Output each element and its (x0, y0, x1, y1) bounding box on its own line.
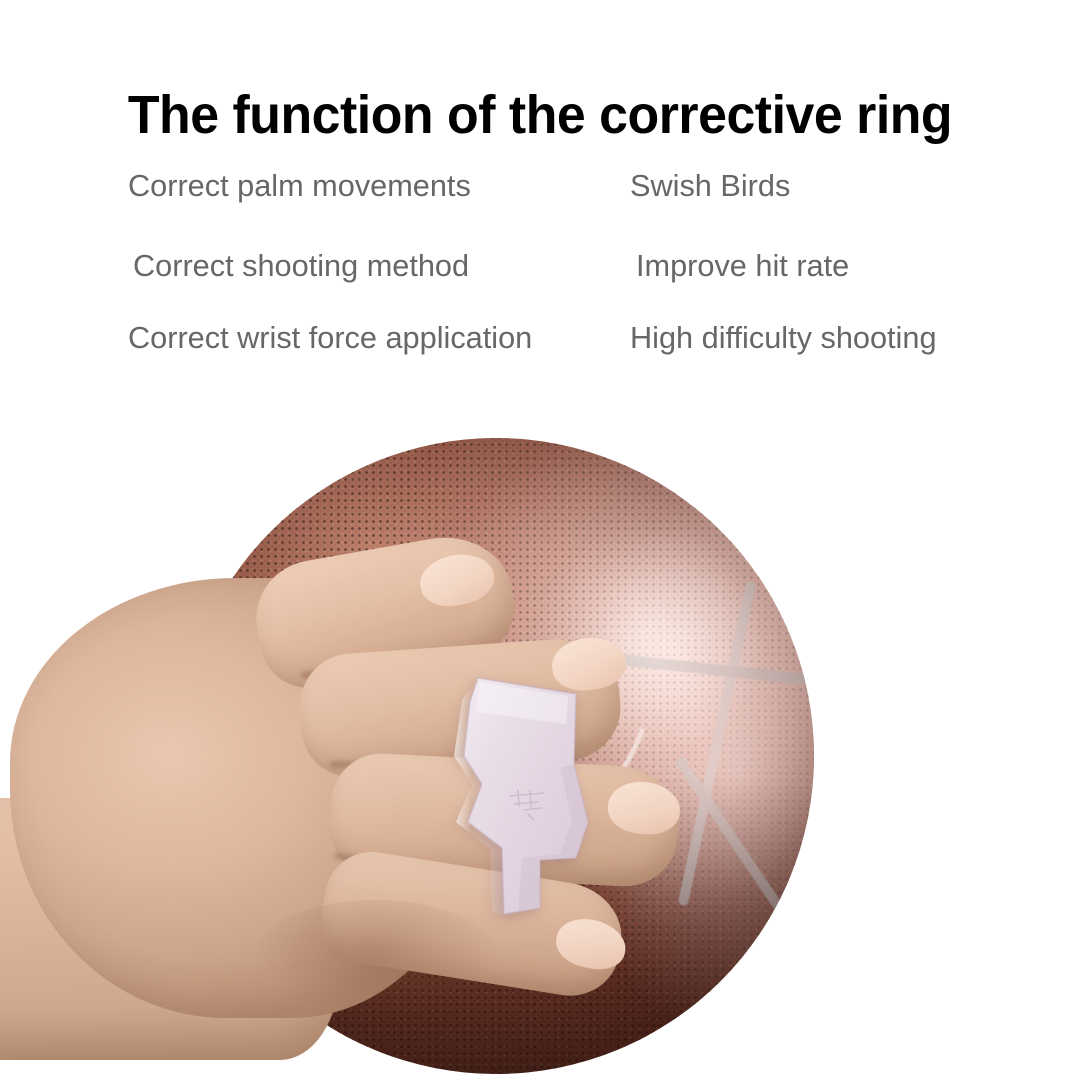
feature-item-right-2: Improve hit rate (636, 248, 849, 284)
feature-item-left-2: Correct shooting method (133, 248, 469, 284)
page-title: The function of the corrective ring (22, 83, 1059, 147)
feature-item-right-1: Swish Birds (630, 168, 790, 204)
corrective-ring (448, 672, 600, 920)
feature-item-left-3: Correct wrist force application (128, 320, 532, 356)
product-photo (0, 400, 1080, 1080)
feature-item-right-3: High difficulty shooting (630, 320, 937, 356)
corrective-ring-embossed-logo (504, 784, 556, 824)
product-infographic-page: The function of the corrective ring Corr… (0, 0, 1080, 1080)
feature-item-left-1: Correct palm movements (128, 168, 471, 204)
feature-list: Correct palm movements Correct shooting … (0, 160, 1080, 380)
